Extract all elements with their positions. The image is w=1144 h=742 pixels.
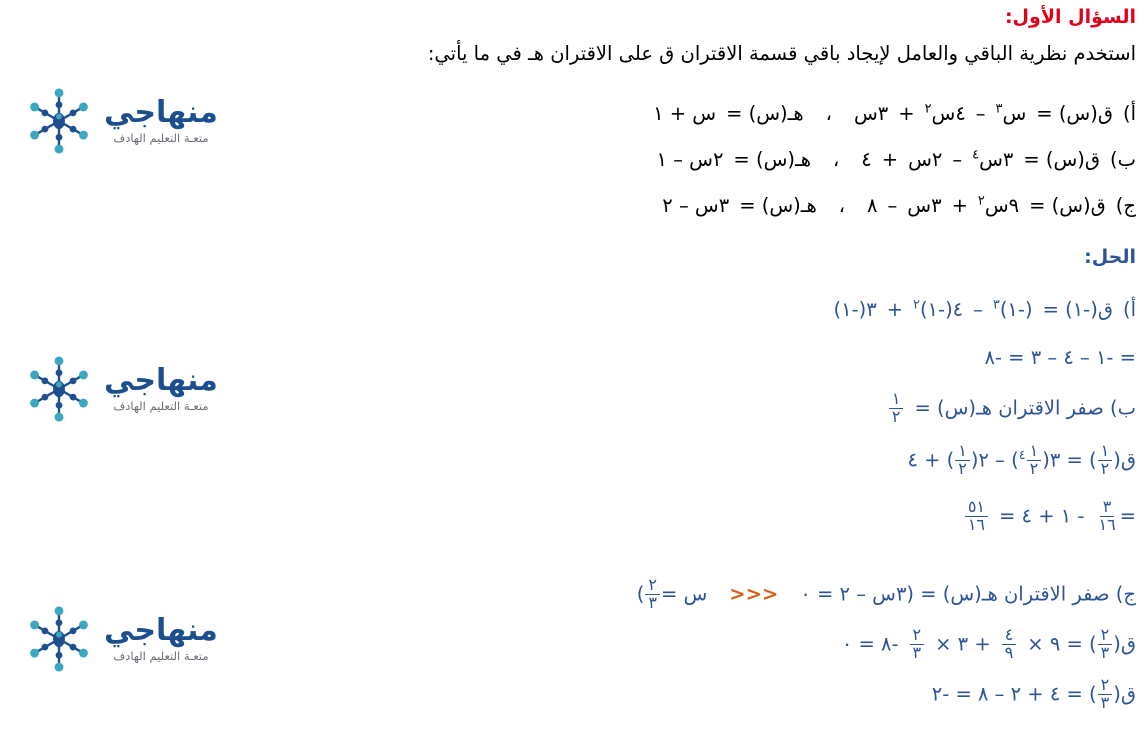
item-c-separator: ، (839, 194, 845, 217)
item-c-h-name: هـ(س) = (739, 194, 817, 217)
sol-b3-mid: - ١ + ٤ = (999, 505, 1084, 528)
sol-a-term2: ٤(-١) (920, 298, 963, 321)
snowflake-logo-icon (22, 352, 96, 426)
watermark-logo-text: منهاجي متعـة التعليم الهادف (104, 98, 218, 145)
watermark-logo-text: منهاجي متعـة التعليم الهادف (104, 366, 218, 413)
item-b-label: ب) (1110, 148, 1136, 171)
solution-c-line-3: ق(٢٣) = ٤ + ٢ – ٨ = -٢ (932, 678, 1136, 712)
item-b-q-name: ق(س) = (1023, 148, 1100, 171)
fraction-denominator: ٢ (955, 461, 970, 478)
sol-a-label: أ) (1123, 298, 1136, 321)
sol-c3-lhs: ق( (1113, 683, 1136, 706)
sol-c1-prefix: ج) صفر الاقتران هـ(س) = (٣س – ٢ = ٠ (800, 583, 1136, 606)
sol-a-lhs: ق(-١) = (1043, 298, 1113, 321)
watermark-title: منهاجي (104, 98, 218, 128)
fraction-denominator: ٣ (1098, 645, 1113, 662)
item-a-q-name: ق(س) = (1036, 102, 1113, 125)
sol-b2-tail: ) + ٤ (907, 449, 954, 472)
item-a-op1: – (976, 102, 986, 125)
item-b-h-expr: ٢س – ١ (657, 148, 724, 171)
sol-b2-fraction-3: ١٢ (955, 443, 970, 477)
snowflake-logo-icon (22, 84, 96, 158)
sol-b2-op: ) – ٢( (971, 449, 1019, 472)
item-a-term3: ٣س (854, 102, 888, 125)
question-item-c: ج)ق(س) =٩س٢+٣س–٨،هـ(س) =٣س – ٢ (662, 196, 1136, 216)
sol-a-op1: – (973, 298, 983, 321)
sol-b2-exponent: ٤ (1019, 448, 1026, 463)
watermark-subtitle: متعـة التعليم الهادف (113, 651, 208, 663)
sol-a-exp2: ٢ (913, 298, 920, 313)
watermark-logo-2: منهاجي متعـة التعليم الهادف (22, 350, 292, 428)
sol-c2-mid-2: + ٣ × (935, 633, 991, 656)
item-b-separator: ، (833, 148, 839, 171)
item-c-op1: + (952, 194, 968, 217)
sol-c2-fraction-1: ٢٣ (1098, 627, 1113, 661)
sol-b3-fraction-1: ٣١٦ (1095, 499, 1118, 533)
fraction-denominator: ٣ (1098, 695, 1113, 712)
fraction-numerator: ٢ (645, 577, 660, 595)
sol-c2-tail: -٨ = ٠ (842, 633, 899, 656)
sol-a-term3: ٣(-١) (833, 298, 876, 321)
watermark-title: منهاجي (104, 366, 218, 396)
sol-c2-lhs: ق( (1113, 633, 1136, 656)
fraction-denominator: ٢ (1027, 461, 1042, 478)
sol-b2-lhs: ق( (1113, 449, 1136, 472)
fraction-denominator: ٣ (910, 645, 925, 662)
item-c-term3: ٨ (867, 194, 877, 217)
item-a-h-name: هـ(س) = (726, 102, 804, 125)
item-a-op2: + (898, 102, 914, 125)
item-c-label: ج) (1116, 194, 1136, 217)
fraction-denominator: ١٦ (1095, 517, 1118, 534)
fraction-numerator: ٢ (910, 627, 925, 645)
fraction-numerator: ١ (1098, 443, 1113, 461)
sol-c1-var: س = (661, 583, 707, 606)
fraction-denominator: ١٦ (965, 517, 988, 534)
solution-a-line-1: أ)ق(-١) =(-١)٣–٤(-١)٢+٣(-١) (833, 300, 1136, 320)
fraction-numerator: ٢ (1098, 677, 1113, 695)
fraction-numerator: ٤ (1002, 627, 1017, 645)
fraction-denominator: ٣ (645, 595, 660, 612)
item-b-h-name: هـ(س) = (733, 148, 811, 171)
solution-c-line-2: ق(٢٣) = ٩ ×٤٩+ ٣ ×٢٣-٨ = ٠ (842, 628, 1136, 662)
solution-a-line-2: = -١ – ٤ – ٣ = -٨ (984, 348, 1136, 368)
item-c-h-expr: ٣س – ٢ (662, 194, 729, 217)
solution-c-line-1: ج) صفر الاقتران هـ(س) = (٣س – ٢ = ٠<<<س … (637, 578, 1136, 612)
sol-c1-fraction: ٢٣ (645, 577, 660, 611)
sol-a-term1: (-١) (1000, 298, 1033, 321)
question-instruction: استخدم نظرية الباقي والعامل لإيجاد باقي … (428, 44, 1136, 64)
solution-b-line-3: =٣١٦- ١ + ٤ =٥١١٦ (964, 500, 1136, 534)
solution-b-line-2: ق(١٢) = ٣(١٢٤) – ٢(١٢) + ٤ (907, 444, 1136, 478)
watermark-logo-text: منهاجي متعـة التعليم الهادف (104, 616, 218, 663)
fraction-numerator: ٢ (1098, 627, 1113, 645)
fraction-numerator: ١ (955, 443, 970, 461)
fraction-denominator: ٢ (1098, 461, 1113, 478)
sol-b3-fraction-2: ٥١١٦ (965, 499, 988, 533)
sol-b-prefix: ب) صفر الاقتران هـ(س) = (914, 397, 1136, 420)
item-c-exp1: ٢ (978, 194, 985, 209)
item-c-op2: – (888, 194, 898, 217)
sol-c3-fraction: ٢٣ (1098, 677, 1113, 711)
sol-c1-close: ) (637, 583, 645, 606)
watermark-logo-1: منهاجي متعـة التعليم الهادف (22, 82, 292, 160)
item-b-term3: ٤ (861, 148, 871, 171)
fraction-numerator: ١ (889, 391, 904, 409)
sol-b2-mid: ) = ٣( (1042, 449, 1096, 472)
fraction-numerator: ٥١ (965, 499, 988, 517)
watermark-subtitle: متعـة التعليم الهادف (113, 133, 208, 145)
watermark-logo-3: منهاجي متعـة التعليم الهادف (22, 600, 292, 678)
question-heading: السؤال الأول: (1005, 8, 1136, 27)
sol-c2-mid-1: ) = ٩ × (1027, 633, 1096, 656)
document-page: منهاجي متعـة التعليم الهادف (0, 0, 1144, 742)
sol-c2-fraction-2: ٤٩ (1002, 627, 1017, 661)
question-item-b: ب)ق(س) =٣س٤–٢س+٤،هـ(س) =٢س – ١ (657, 150, 1136, 170)
item-a-separator: ، (826, 102, 832, 125)
item-a-h-expr: س + ١ (653, 102, 716, 125)
item-b-op2: + (882, 148, 898, 171)
fraction-denominator: ٢ (889, 409, 904, 426)
item-a-exp2: ٢ (925, 102, 932, 117)
item-c-term1: ٩س (985, 194, 1019, 217)
item-a-term2: ٤س (932, 102, 966, 125)
fraction-numerator: ٣ (1100, 499, 1115, 517)
sol-a-op2: + (887, 298, 903, 321)
item-c-q-name: ق(س) = (1029, 194, 1106, 217)
item-a-label: أ) (1123, 102, 1136, 125)
snowflake-logo-icon (22, 602, 96, 676)
question-item-a: أ)ق(س) =س٣–٤س٢+٣س،هـ(س) =س + ١ (653, 104, 1136, 124)
fraction-numerator: ١ (1027, 443, 1042, 461)
sol-c1-arrow-icon: <<< (729, 583, 778, 606)
fraction-denominator: ٩ (1002, 645, 1017, 662)
sol-a-exp1: ٣ (993, 298, 1000, 313)
sol-b-fraction-half: ١٢ (889, 391, 904, 425)
item-b-term1: ٣س (979, 148, 1013, 171)
sol-b2-fraction-2: ١٢ (1027, 443, 1042, 477)
sol-b3-eq: = (1120, 505, 1136, 528)
item-a-term1: س (1002, 102, 1026, 125)
watermark-title: منهاجي (104, 616, 218, 646)
sol-b2-fraction-1: ١٢ (1098, 443, 1113, 477)
item-b-op1: – (952, 148, 962, 171)
item-b-term2: ٢س (908, 148, 942, 171)
sol-c2-fraction-3: ٢٣ (910, 627, 925, 661)
solution-b-line-1: ب) صفر الاقتران هـ(س) =١٢ (888, 392, 1136, 426)
item-c-term2: ٣س (907, 194, 941, 217)
sol-c3-tail: ) = ٤ + ٢ – ٨ = -٢ (932, 683, 1097, 706)
watermark-subtitle: متعـة التعليم الهادف (113, 401, 208, 413)
solution-heading: الحل: (1084, 248, 1136, 267)
